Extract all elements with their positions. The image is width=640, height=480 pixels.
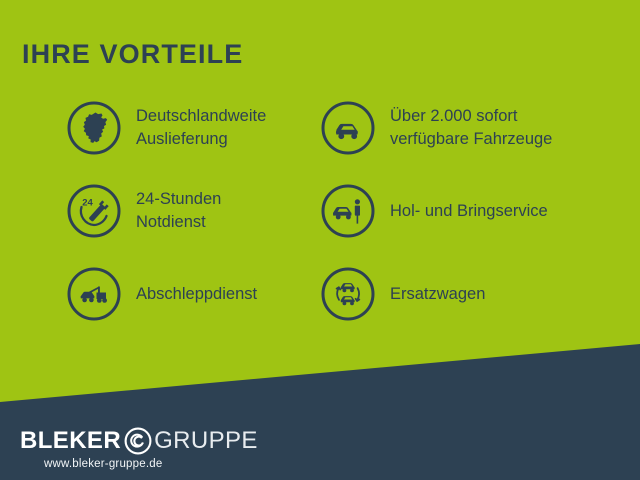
car-icon xyxy=(320,100,376,156)
logo-primary-text: BLEKER xyxy=(20,427,121,455)
page-title: IHRE VORTEILE xyxy=(22,40,243,70)
advantages-slide: IHRE VORTEILE Deutschlandweite Ausliefer… xyxy=(0,0,640,480)
benefits-column-right: Über 2.000 sofort verfügbare Fahrzeuge H… xyxy=(320,97,630,346)
benefit-label: Hol- und Bringservice xyxy=(390,200,548,223)
badge-24: 24 xyxy=(82,198,93,209)
spiral-circle-icon xyxy=(123,426,153,456)
benefits-column-left: Deutschlandweite Auslieferung 24 24-Stun… xyxy=(66,97,316,346)
germany-map-icon xyxy=(66,100,122,156)
website-url[interactable]: www.bleker-gruppe.de xyxy=(44,458,258,470)
benefit-item-24-stunden-notdienst: 24 24-Stunden Notdienst xyxy=(66,180,316,242)
benefit-item-abschleppdienst: Abschleppdienst xyxy=(66,263,316,325)
footer-logo[interactable]: BLEKER GRUPPE www.bleker-gruppe.de xyxy=(20,426,258,470)
benefit-label: 24-Stunden Notdienst xyxy=(136,188,221,234)
replacement-car-icon xyxy=(320,266,376,322)
benefit-item-ersatzwagen: Ersatzwagen xyxy=(320,263,630,325)
logo-secondary-text: GRUPPE xyxy=(154,427,258,455)
car-with-person-icon xyxy=(320,183,376,239)
benefit-label: Abschleppdienst xyxy=(136,283,257,306)
benefit-item-hol-und-bringservice: Hol- und Bringservice xyxy=(320,180,630,242)
benefit-label: Deutschlandweite Auslieferung xyxy=(136,105,266,151)
logo-wordmark: BLEKER GRUPPE xyxy=(20,426,258,456)
benefit-item-verfuegbare-fahrzeuge: Über 2.000 sofort verfügbare Fahrzeuge xyxy=(320,97,630,159)
tow-truck-icon xyxy=(66,266,122,322)
benefit-item-deutschlandweite-auslieferung: Deutschlandweite Auslieferung xyxy=(66,97,316,159)
benefit-label: Über 2.000 sofort verfügbare Fahrzeuge xyxy=(390,105,552,151)
24-hour-wrench-icon: 24 xyxy=(66,183,122,239)
benefit-label: Ersatzwagen xyxy=(390,283,485,306)
